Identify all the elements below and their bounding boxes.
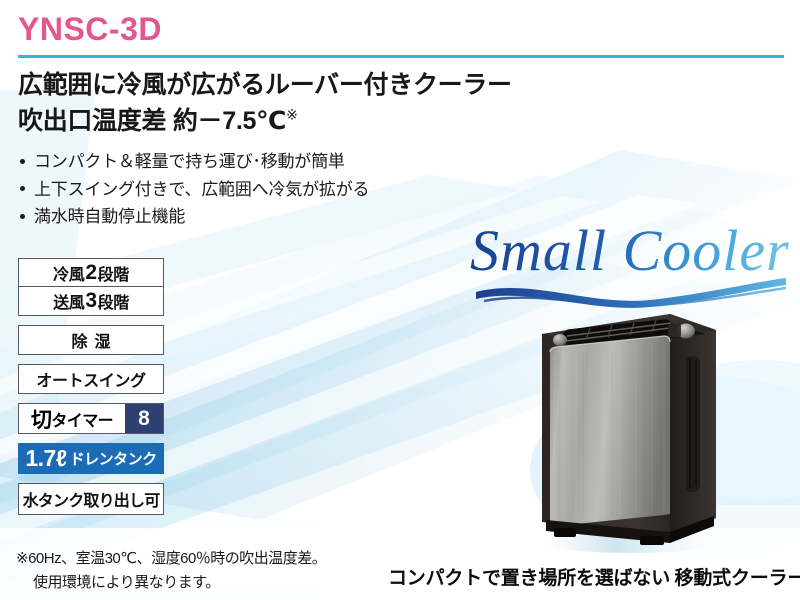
auto-swing-label: オートスイング [19,365,163,393]
tank-volume: 1.7ℓ [25,445,66,472]
page-title: YNSC-3D [18,12,162,47]
spec-badge-list: 冷風2段階 送風3段階 除湿 オートスイング 切タイマー 8 1.7ℓドレンタン… [18,258,164,524]
headline-line-2: 吹出口温度差 約－7.5℃※ [18,104,512,140]
headline-footnote-mark: ※ [286,106,297,122]
timer-label-text: タイマー [51,407,113,431]
timer-label: 切タイマー [19,404,125,433]
headline-line-1: 広範囲に冷風が広がるルーバー付きクーラー [18,68,512,104]
dehumidify-label: 除湿 [19,326,163,354]
timer-hours-value: 8 [125,404,163,433]
headline-line-2-text: 吹出口温度差 約－7.5℃ [18,107,286,135]
list-item: 上下スイング付きで、広範囲へ冷気が拡がる [20,176,369,204]
tank-label: ドレンタンク [70,448,157,469]
brand-wordmark: Small Cooler [470,222,790,280]
feature-list: コンパクト＆軽量で持ち運び･移動が簡単 上下スイング付きで、広範囲へ冷気が拡がる… [20,148,369,231]
bullet-dot-icon [20,186,25,191]
spec-badge-dehumidify: 除湿 [18,325,164,355]
brand-logo: Small Cooler [470,222,790,312]
header-divider [18,55,784,58]
product-photo [520,300,740,555]
feature-text: 満水時自動停止機能 [34,207,185,226]
footnote-line-1: ※60Hz、室温30℃、湿度60％時の吹出温度差。 [16,550,326,567]
cool-prefix: 冷風 [53,261,84,285]
headline: 広範囲に冷風が広がるルーバー付きクーラー 吹出口温度差 約－7.5℃※ [18,68,512,139]
fan-suffix: 段階 [98,289,129,313]
feature-text: 上下スイング付きで、広範囲へ冷気が拡がる [34,180,369,199]
spec-badge-drain-tank: 1.7ℓドレンタンク [18,443,164,474]
spec-badge-fan-steps: 送風3段階 [19,287,163,315]
product-caption: コンパクトで置き場所を選ばない 移動式クーラー [388,563,800,590]
cool-level: 2 [84,261,97,285]
footnote: ※60Hz、室温30℃、湿度60％時の吹出温度差。 使用環境により異なります。 [16,547,326,595]
removable-tank-label: 水タンク取り出し可 [19,484,163,514]
feature-text: コンパクト＆軽量で持ち運び･移動が簡単 [34,152,345,171]
footnote-line-2: 使用環境により異なります。 [16,571,326,595]
list-item: 満水時自動停止機能 [20,203,369,231]
spec-badge-cool-steps: 冷風2段階 [19,259,163,287]
spec-badge-airflow-group: 冷風2段階 送風3段階 [18,258,164,316]
spec-badge-auto-swing: オートスイング [18,364,164,394]
product-banner: YNSC-3D 広範囲に冷風が広がるルーバー付きクーラー 吹出口温度差 約－7.… [0,0,800,600]
cool-suffix: 段階 [98,261,129,285]
fan-level: 3 [84,289,97,313]
spec-badge-removable-tank: 水タンク取り出し可 [18,483,164,515]
list-item: コンパクト＆軽量で持ち運び･移動が簡単 [20,148,369,176]
bullet-dot-icon [20,159,25,164]
spec-badge-off-timer: 切タイマー 8 [18,403,164,434]
fan-prefix: 送風 [53,289,84,313]
bullet-dot-icon [20,214,25,219]
timer-kiru-char: 切 [31,404,51,434]
